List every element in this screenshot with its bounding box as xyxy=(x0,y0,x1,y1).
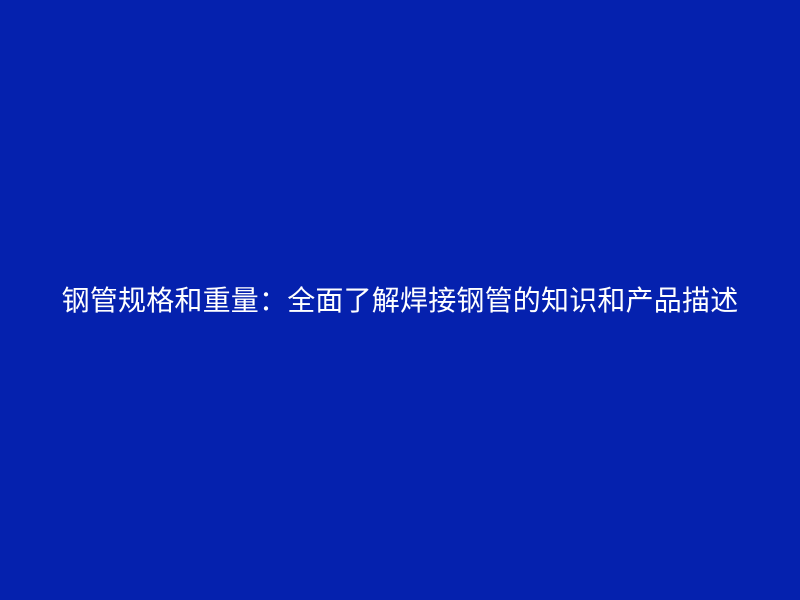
title-block: 钢管规格和重量：全面了解焊接钢管的知识和产品描述 xyxy=(0,275,800,327)
page-title: 钢管规格和重量：全面了解焊接钢管的知识和产品描述 xyxy=(52,275,748,327)
title-card: 钢管规格和重量：全面了解焊接钢管的知识和产品描述 xyxy=(0,0,800,600)
